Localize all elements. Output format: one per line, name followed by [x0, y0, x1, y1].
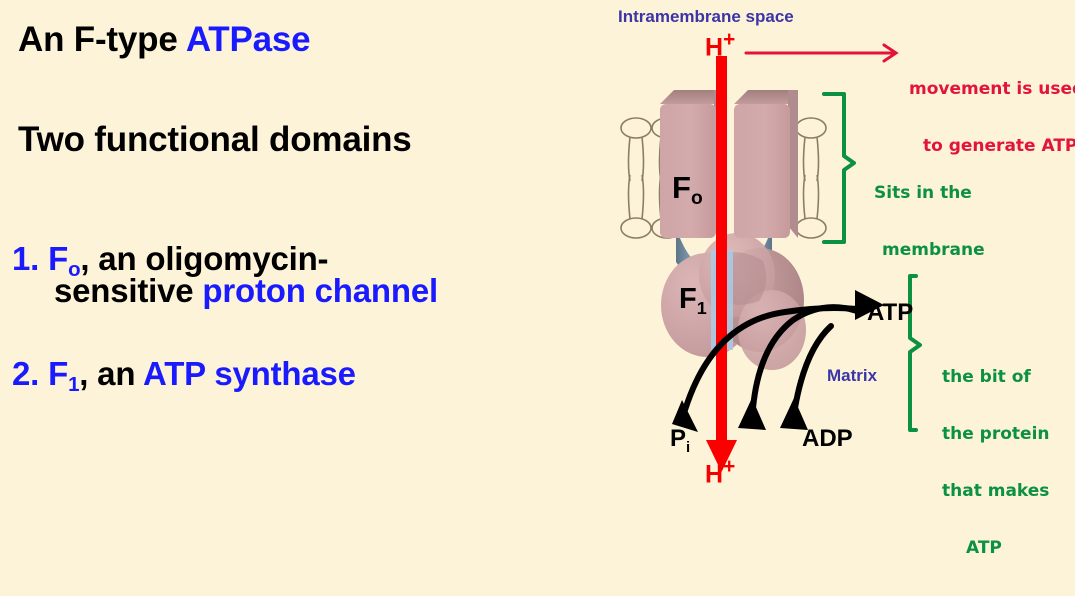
proton-top-symbol: H	[705, 33, 723, 61]
annotation-membrane-line1: Sits in the	[874, 184, 985, 203]
phospholipid-bilayer-right	[796, 118, 826, 238]
page-title: An F-type ATPase	[18, 20, 310, 60]
annotation-atp-maker-line1: the bit of	[942, 368, 1050, 387]
annotation-membrane-line2: membrane	[882, 241, 985, 260]
annotation-membrane: Sits in the membrane	[874, 146, 985, 298]
fo-subscript: o	[691, 188, 703, 209]
subheading: Two functional domains	[18, 120, 412, 160]
annotation-atp-maker-line4: ATP	[966, 539, 1050, 558]
text-panel: An F-type ATPase Two functional domains …	[0, 0, 612, 514]
movement-leader-line	[746, 45, 896, 61]
list-item-1-line2: sensitive proton channel	[54, 272, 438, 310]
title-highlight: ATPase	[186, 20, 311, 59]
label-intramembrane-space: Intramembrane space	[618, 7, 794, 27]
annotation-atp-maker-line3: that makes	[942, 482, 1050, 501]
label-adp: ADP	[802, 425, 853, 453]
label-f1-domain: F1	[679, 283, 707, 316]
slide-canvas: An F-type ATPase Two functional domains …	[0, 0, 1075, 514]
fo-domain-blocks	[660, 90, 798, 238]
list-item-2: 2. F1, an ATP synthase	[12, 355, 356, 393]
f1-subscript: 1	[697, 298, 707, 318]
title-plain: An F-type	[18, 20, 186, 59]
atp-synthase-diagram: Intramembrane space Matrix H+ H+ Fo F1 A…	[612, 0, 1075, 514]
list-item-1-line2-plain: sensitive	[54, 272, 202, 309]
pi-symbol: P	[670, 425, 686, 452]
membrane-bracket	[824, 94, 854, 242]
label-fo-domain: Fo	[672, 170, 703, 206]
proton-top-charge: +	[723, 28, 735, 51]
list-item-2-text: , an	[79, 355, 143, 392]
list-item-1-number: 1.	[12, 240, 39, 277]
annotation-movement-line1: movement is used	[909, 80, 1075, 99]
label-proton-top: H+	[705, 28, 735, 62]
label-phosphate: Pi	[670, 425, 690, 453]
list-item-2-symbol: F	[48, 355, 68, 392]
list-item-2-subscript: 1	[68, 373, 79, 396]
fo-symbol: F	[672, 170, 691, 205]
proton-bottom-charge: +	[723, 455, 735, 478]
label-matrix: Matrix	[827, 366, 877, 386]
annotation-atp-maker: the bit of the protein that makes ATP	[942, 330, 1050, 596]
label-atp: ATP	[867, 299, 913, 327]
label-proton-bottom: H+	[705, 455, 735, 489]
pi-subscript: i	[686, 440, 690, 456]
proton-bottom-symbol: H	[705, 460, 723, 488]
f1-symbol: F	[679, 283, 697, 315]
list-item-2-highlight: ATP synthase	[143, 355, 356, 392]
list-item-1-line2-highlight: proton channel	[202, 272, 438, 309]
annotation-atp-maker-line2: the protein	[942, 425, 1050, 444]
list-item-2-number: 2.	[12, 355, 39, 392]
